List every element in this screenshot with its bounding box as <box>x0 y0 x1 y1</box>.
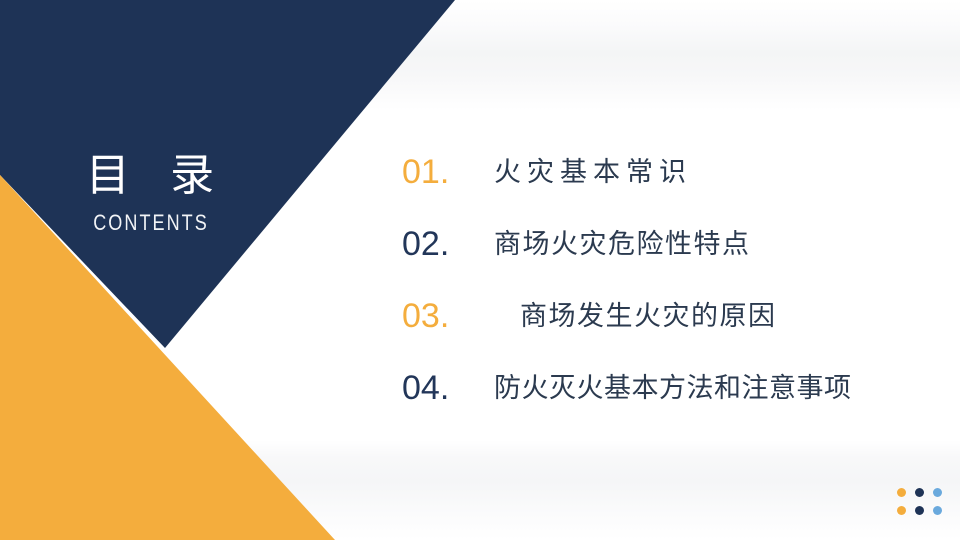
dot-cell <box>892 501 910 519</box>
decoration-dot <box>933 488 942 497</box>
decoration-dot <box>897 506 906 515</box>
dot-cell <box>892 483 910 501</box>
dot-cell <box>928 483 946 501</box>
toc-item-number: 01. <box>402 152 494 192</box>
dot-cell <box>910 501 928 519</box>
page-subtitle: CONTENTS <box>27 208 273 238</box>
toc-item-number: 02. <box>402 224 494 264</box>
decoration-dot <box>897 488 906 497</box>
toc-item[interactable]: 02.商场火灾危险性特点 <box>402 208 947 280</box>
toc-item-number: 03. <box>402 296 494 336</box>
toc-item[interactable]: 04.防火灭火基本方法和注意事项 <box>402 352 947 424</box>
dot-grid-decoration <box>892 483 946 519</box>
title-block: 目 录 CONTENTS <box>0 150 300 238</box>
toc-item-label: 商场火灾危险性特点 <box>494 227 751 261</box>
toc-item-label: 火灾基本常识 <box>494 155 692 189</box>
toc-item[interactable]: 01.火灾基本常识 <box>402 136 947 208</box>
decoration-dot <box>915 488 924 497</box>
decoration-dot <box>915 506 924 515</box>
toc-item-number: 04. <box>402 368 494 408</box>
contents-list: 01.火灾基本常识02.商场火灾危险性特点03.商场发生火灾的原因04.防火灭火… <box>402 136 947 424</box>
dot-cell <box>928 501 946 519</box>
toc-item-label: 防火灭火基本方法和注意事项 <box>494 371 852 405</box>
dot-cell <box>910 483 928 501</box>
contents-slide: 目 录 CONTENTS 01.火灾基本常识02.商场火灾危险性特点03.商场发… <box>0 0 960 540</box>
decoration-dot <box>933 506 942 515</box>
toc-item-label: 商场发生火灾的原因 <box>494 299 777 333</box>
page-title: 目 录 <box>0 150 300 202</box>
toc-item[interactable]: 03.商场发生火灾的原因 <box>402 280 947 352</box>
